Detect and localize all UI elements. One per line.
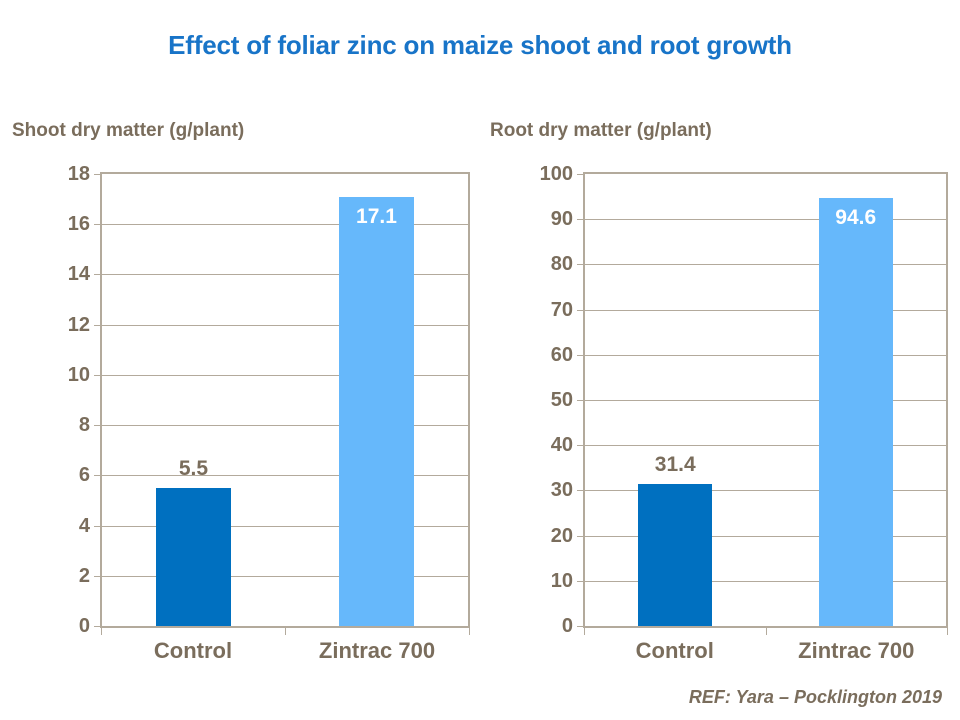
y-axis-tick-label: 30	[551, 480, 585, 500]
y-axis-tick-label: 90	[551, 209, 585, 229]
y-axis-tick-label: 6	[79, 465, 102, 485]
x-axis-category-label: Zintrac 700	[277, 640, 477, 662]
y-axis-tick-label: 40	[551, 435, 585, 455]
bar[interactable]: 5.5	[156, 488, 231, 626]
y-axis-tick-label: 50	[551, 390, 585, 410]
y-axis-tick-label: 20	[551, 526, 585, 546]
x-axis-category-label: Control	[575, 640, 775, 662]
bar-value-label: 31.4	[615, 454, 735, 475]
y-axis-tick-label: 8	[79, 415, 102, 435]
x-axis-tick-mark	[766, 626, 767, 635]
x-axis-tick-mark	[285, 626, 286, 635]
y-axis-tick-label: 0	[79, 616, 102, 636]
bar[interactable]: 17.1	[339, 197, 414, 626]
bar[interactable]: 94.6	[819, 198, 893, 626]
shoot-chart-axis-title: Shoot dry matter (g/plant)	[12, 120, 244, 142]
y-axis-tick-label: 100	[540, 164, 585, 184]
root-plot-area: 0102030405060708090100ControlZintrac 700…	[583, 172, 948, 628]
y-axis-tick-label: 18	[68, 164, 102, 184]
y-axis-tick-label: 10	[68, 365, 102, 385]
reference-note: REF: Yara – Pocklington 2019	[689, 687, 942, 708]
bar-value-label: 17.1	[316, 206, 436, 227]
bar[interactable]: 31.4	[638, 484, 712, 626]
x-axis-category-label: Control	[93, 640, 293, 662]
shoot-plot-wrapper: 024681012141618ControlZintrac 7005.517.1	[100, 172, 470, 628]
page-title: Effect of foliar zinc on maize shoot and…	[0, 30, 960, 61]
root-chart-axis-title: Root dry matter (g/plant)	[490, 120, 712, 142]
y-axis-tick-label: 12	[68, 315, 102, 335]
y-axis-tick-label: 2	[79, 566, 102, 586]
root-plot-wrapper: 0102030405060708090100ControlZintrac 700…	[583, 172, 948, 628]
x-axis-category-label: Zintrac 700	[756, 640, 956, 662]
bar-value-label: 94.6	[796, 207, 916, 228]
shoot-plot-area: 024681012141618ControlZintrac 7005.517.1	[100, 172, 470, 628]
y-axis-tick-label: 14	[68, 264, 102, 284]
x-axis-tick-mark	[469, 626, 470, 635]
y-axis-tick-label: 70	[551, 300, 585, 320]
y-axis-tick-label: 60	[551, 345, 585, 365]
y-axis-tick-label: 80	[551, 254, 585, 274]
y-axis-tick-label: 4	[79, 516, 102, 536]
y-axis-tick-label: 0	[562, 616, 585, 636]
bar-value-label: 5.5	[133, 458, 253, 479]
y-axis-tick-label: 10	[551, 571, 585, 591]
x-axis-tick-mark	[101, 626, 102, 635]
x-axis-tick-mark	[584, 626, 585, 635]
y-axis-tick-label: 16	[68, 214, 102, 234]
x-axis-tick-mark	[947, 626, 948, 635]
